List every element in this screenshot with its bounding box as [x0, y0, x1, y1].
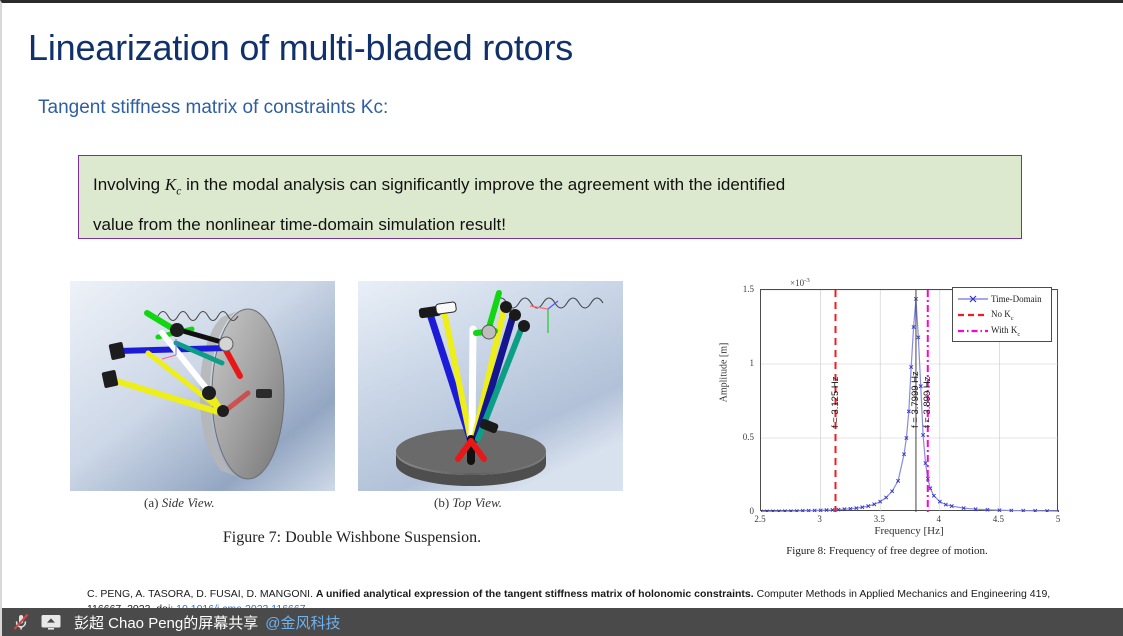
- figure-8-caption: Figure 8: Frequency of free degree of mo…: [702, 545, 1072, 557]
- microphone-muted-icon[interactable]: [8, 611, 34, 633]
- x-tick-label: 2.5: [745, 514, 775, 524]
- figure-7: (a) Side View. (b) Top View. Figure 7: D…: [62, 281, 642, 551]
- x-tick-label: 3.5: [864, 514, 894, 524]
- figure-7-caption: Figure 7: Double Wishbone Suspension.: [62, 529, 642, 547]
- x-tick-label: 5: [1043, 514, 1073, 524]
- slide-subtitle: Tangent stiffness matrix of constraints …: [38, 97, 388, 119]
- legend-item-time-domain: Time-Domain: [957, 291, 1047, 307]
- citation-title: A unified analytical expression of the t…: [316, 588, 754, 600]
- callout-box: Involving Kc in the modal analysis can s…: [78, 155, 1022, 239]
- screen-share-bar: 彭超 Chao Peng的屏幕共享 @金风科技: [2, 608, 1123, 636]
- citation-authors: C. PENG, A. TASORA, D. FUSAI, D. MANGONI…: [87, 588, 313, 600]
- subfigure-caption-b: (b) Top View.: [434, 495, 502, 511]
- share-label: 彭超 Chao Peng的屏幕共享: [74, 612, 258, 633]
- legend-item-no-kc: No Kc: [957, 307, 1047, 323]
- x-axis-title: Frequency [Hz]: [760, 525, 1058, 537]
- legend-label-no-kc: No Kc: [991, 309, 1014, 322]
- y-tick-label: 1.5: [720, 284, 754, 294]
- callout-text-before: Involving: [93, 175, 160, 194]
- callout-line-2: value from the nonlinear time-domain sim…: [93, 208, 1007, 242]
- subfigure-caption-a: (a) Side View.: [144, 495, 215, 511]
- presentation-slide: Linearization of multi-bladed rotors Tan…: [0, 0, 1123, 636]
- y-axis-exponent: ×10-3: [790, 277, 810, 288]
- chart-legend: Time-Domain No Kc With Kc: [952, 287, 1052, 342]
- figure-8: ×10-3 Amplitude [m] Frequency [Hz] 00.51…: [702, 275, 1072, 565]
- chart-annotation-label: f = 3.899 Hz: [922, 377, 933, 429]
- x-tick-label: 4: [924, 514, 954, 524]
- legend-item-with-kc: With Kc: [957, 323, 1047, 339]
- legend-label-time-domain: Time-Domain: [991, 294, 1042, 304]
- chart-annotation-label: f = 3.125 Hz: [830, 377, 841, 429]
- top-view-render: [358, 281, 623, 491]
- kc-symbol: Kc: [165, 175, 181, 194]
- page-title: Linearization of multi-bladed rotors: [28, 27, 573, 69]
- callout-line-1: Involving Kc in the modal analysis can s…: [93, 168, 1007, 208]
- legend-label-with-kc: With Kc: [991, 325, 1020, 338]
- screen-share-icon[interactable]: [38, 611, 64, 633]
- chart-annotation-label: f = 3.7999 Hz: [910, 371, 921, 428]
- x-tick-label: 4.5: [983, 514, 1013, 524]
- side-view-render: [70, 281, 335, 491]
- y-tick-label: 1: [720, 358, 754, 368]
- callout-text-after: in the modal analysis can significantly …: [186, 175, 785, 194]
- y-axis-title: Amplitude [m]: [719, 323, 730, 423]
- y-tick-label: 0.5: [720, 432, 754, 442]
- x-tick-label: 3: [805, 514, 835, 524]
- share-handle: @金风科技: [265, 612, 340, 633]
